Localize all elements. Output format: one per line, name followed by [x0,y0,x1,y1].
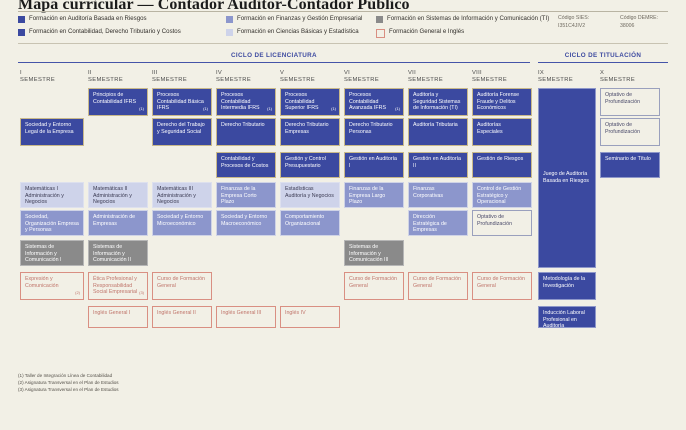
course-box[interactable]: Estadísticas Auditoría y Negocios [280,182,340,208]
curriculum-map-page: Mapa curricular — Contador Auditor-Conta… [0,0,686,430]
course-box[interactable]: Auditoría Forense Fraude y Delitos Econó… [472,88,532,116]
semester-header-viii: VIIISEMESTRE [472,70,507,84]
course-footnote-marker: (1) [331,106,336,113]
course-label: Sociedad y Entorno Legal de la Empresa [25,122,79,135]
course-box[interactable]: Procesos Contabilidad Intermedia IFRS(1) [216,88,276,116]
course-box[interactable]: Sociedad y Entorno Microeconómico [152,210,212,236]
course-label: Derecho Tributario Empresas [285,122,335,135]
course-footnote-marker: (1) [139,106,144,113]
course-label: Principios de Contabilidad IFRS [93,92,143,105]
course-label: Derecho Tributario [221,122,271,129]
course-box[interactable]: Gestión en Auditoría I [344,152,404,178]
semester-roman: VIII [472,70,507,77]
course-label: Curso de Formación General [349,276,399,289]
course-label: Matemáticas I Administración y Negocios [25,186,79,206]
course-box[interactable]: Control de Gestión Estratégico y Operaci… [472,182,532,208]
course-box[interactable]: Sociedad y Entorno Legal de la Empresa [20,118,84,146]
semester-roman: IV [216,70,251,77]
semester-header-ii: IISEMESTRE [88,70,123,84]
course-label: Curso de Formación General [477,276,527,289]
semester-header-v: VSEMESTRE [280,70,315,84]
course-footnote-marker: (1) [267,106,272,113]
footnote: (3) Asignatura Transversal en el Plan de… [18,386,119,393]
course-box[interactable]: Expresión y Comunicación(2) [20,272,84,300]
course-label: Auditorías Especiales [477,122,527,135]
semester-word: SEMESTRE [408,77,443,84]
course-box[interactable]: Finanzas de la Empresa Largo Plazo [344,182,404,208]
course-box[interactable]: Dirección Estratégica de Empresas [408,210,468,236]
course-label: Finanzas de la Empresa Corto Plazo [221,186,271,206]
course-box[interactable]: Inglés General II [152,306,212,328]
course-label: Sistemas de Información y Comunicación I… [93,244,143,264]
course-label: Ética Profesional y Responsabilidad Soci… [93,276,143,296]
course-label: Optativo de Profundización [605,122,655,135]
course-label: Administración de Empresas [93,214,143,227]
course-label: Procesos Contabilidad Intermedia IFRS [221,92,271,112]
semester-roman: X [600,70,635,77]
course-grid: ISEMESTREIISEMESTREIIISEMESTREIVSEMESTRE… [0,0,686,430]
course-label: Seminario de Título [605,156,655,163]
semester-word: SEMESTRE [600,77,635,84]
semester-roman: I [20,70,55,77]
course-box[interactable]: Procesos Contabilidad Avanzada IFRS(1) [344,88,404,116]
course-label: Matemáticas II Administración y Negocios [93,186,143,206]
semester-header-ix: IXSEMESTRE [538,70,573,84]
course-box[interactable]: Comportamiento Organizacional [280,210,340,236]
course-box[interactable]: Procesos Contabilidad Básica IFRS(1) [152,88,212,116]
course-label: Expresión y Comunicación [25,276,79,289]
semester-roman: II [88,70,123,77]
course-label: Finanzas de la Empresa Largo Plazo [349,186,399,206]
course-label: Contabilidad y Procesos de Costos [221,156,271,169]
course-label: Control de Gestión Estratégico y Operaci… [477,186,527,206]
course-box[interactable]: Inglés General I [88,306,148,328]
course-label: Curso de Formación General [413,276,463,289]
course-label: Sociedad y Entorno Microeconómico [157,214,207,227]
course-label: Sociedad y Entorno Macroeconómico [221,214,271,227]
course-label: Inglés General III [221,310,271,317]
course-footnote-marker: (1) [203,106,208,113]
course-label: Matemáticas III Administración y Negocio… [157,186,207,206]
course-box[interactable]: Curso de Formación General [408,272,468,300]
course-box[interactable]: Finanzas de la Empresa Corto Plazo [216,182,276,208]
course-box[interactable]: Principios de Contabilidad IFRS(1) [88,88,148,116]
course-box[interactable]: Administración de Empresas [88,210,148,236]
course-footnote-marker: (1) [395,106,400,113]
course-box[interactable]: Juego de Auditoría Basada en Riesgos [538,88,596,268]
course-box[interactable]: Metodología de la Investigación [538,272,596,300]
course-box[interactable]: Inducción Laboral Profesional en Auditor… [538,306,596,328]
course-label: Juego de Auditoría Basada en Riesgos [543,171,591,184]
course-box[interactable]: Inglés IV [280,306,340,328]
course-label: Curso de Formación General [157,276,207,289]
course-label: Inducción Laboral Profesional en Auditor… [543,310,591,328]
course-label: Gestión en Auditoría II [413,156,463,169]
course-box[interactable]: Curso de Formación General [152,272,212,300]
course-box[interactable]: Gestión de Riesgos [472,152,532,178]
course-box[interactable]: Derecho Tributario Personas [344,118,404,146]
semester-roman: VI [344,70,379,77]
semester-word: SEMESTRE [20,77,55,84]
course-label: Finanzas Corporativas [413,186,463,199]
semester-header-iii: IIISEMESTRE [152,70,187,84]
course-label: Auditoría Forense Fraude y Delitos Econó… [477,92,527,112]
course-box[interactable]: Sociedad, Organización Empresa y Persona… [20,210,84,236]
semester-header-vi: VISEMESTRE [344,70,379,84]
course-box[interactable]: Contabilidad y Procesos de Costos [216,152,276,178]
course-label: Sistemas de Información y Comunicación I [25,244,79,264]
footnotes: (1) Taller de Integración Línea de Conta… [18,372,119,393]
semester-word: SEMESTRE [538,77,573,84]
semester-roman: V [280,70,315,77]
course-label: Dirección Estratégica de Empresas [413,214,463,234]
course-label: Comportamiento Organizacional [285,214,335,227]
course-label: Inglés General II [157,310,207,317]
course-box[interactable]: Seminario de Título [600,152,660,178]
course-label: Derecho del Trabajo y Seguridad Social [157,122,207,135]
course-label: Gestión de Riesgos [477,156,527,163]
course-box[interactable]: Gestión en Auditoría II [408,152,468,178]
course-label: Metodología de la Investigación [543,276,591,289]
course-label: Derecho Tributario Personas [349,122,399,135]
semester-header-i: ISEMESTRE [20,70,55,84]
course-label: Sociedad, Organización Empresa y Persona… [25,214,79,234]
course-label: Estadísticas Auditoría y Negocios [285,186,335,199]
semester-word: SEMESTRE [152,77,187,84]
course-box[interactable]: Matemáticas II Administración y Negocios [88,182,148,208]
course-box[interactable]: Matemáticas III Administración y Negocio… [152,182,212,208]
course-box[interactable]: Gestión y Control Presupuestario [280,152,340,178]
course-label: Procesos Contabilidad Superior IFRS [285,92,335,112]
footnote: (1) Taller de Integración Línea de Conta… [18,372,119,379]
course-box[interactable]: Auditorías Especiales [472,118,532,146]
semester-roman: III [152,70,187,77]
course-box[interactable]: Auditoría Tributaria [408,118,468,146]
course-box[interactable]: Procesos Contabilidad Superior IFRS(1) [280,88,340,116]
course-box[interactable]: Optativo de Profundización [600,118,660,146]
course-box[interactable]: Curso de Formación General [472,272,532,300]
course-box[interactable]: Sistemas de Información y Comunicación I… [344,240,404,266]
course-box[interactable]: Derecho Tributario Empresas [280,118,340,146]
course-box[interactable]: Derecho Tributario [216,118,276,146]
course-box[interactable]: Optativo de Profundización [472,210,532,236]
semester-roman: IX [538,70,573,77]
course-box[interactable]: Auditoría y Seguridad Sistemas de Inform… [408,88,468,116]
course-label: Sistemas de Información y Comunicación I… [349,244,399,264]
course-label: Gestión en Auditoría I [349,156,399,169]
semester-word: SEMESTRE [88,77,123,84]
semester-header-iv: IVSEMESTRE [216,70,251,84]
course-footnote-marker: (3) [139,290,144,297]
course-footnote-marker: (2) [75,290,80,297]
course-box[interactable]: Matemáticas I Administración y Negocios [20,182,84,208]
course-label: Procesos Contabilidad Avanzada IFRS [349,92,399,112]
course-label: Inglés IV [285,310,335,317]
semester-word: SEMESTRE [344,77,379,84]
semester-header-vii: VIISEMESTRE [408,70,443,84]
course-box[interactable]: Finanzas Corporativas [408,182,468,208]
semester-header-x: XSEMESTRE [600,70,635,84]
course-box[interactable]: Derecho del Trabajo y Seguridad Social [152,118,212,146]
course-label: Gestión y Control Presupuestario [285,156,335,169]
course-box[interactable]: Optativo de Profundización [600,88,660,116]
course-box[interactable]: Ética Profesional y Responsabilidad Soci… [88,272,148,300]
course-label: Procesos Contabilidad Básica IFRS [157,92,207,112]
semester-roman: VII [408,70,443,77]
semester-word: SEMESTRE [216,77,251,84]
footnote: (2) Asignatura Transversal en el Plan de… [18,379,119,386]
course-box[interactable]: Sistemas de Información y Comunicación I [20,240,84,266]
course-label: Optativo de Profundización [477,214,527,227]
course-label: Inglés General I [93,310,143,317]
semester-word: SEMESTRE [280,77,315,84]
course-box[interactable]: Inglés General III [216,306,276,328]
course-label: Optativo de Profundización [605,92,655,105]
course-label: Auditoría Tributaria [413,122,463,129]
semester-word: SEMESTRE [472,77,507,84]
course-box[interactable]: Curso de Formación General [344,272,404,300]
course-box[interactable]: Sociedad y Entorno Macroeconómico [216,210,276,236]
course-box[interactable]: Sistemas de Información y Comunicación I… [88,240,148,266]
course-label: Auditoría y Seguridad Sistemas de Inform… [413,92,463,112]
